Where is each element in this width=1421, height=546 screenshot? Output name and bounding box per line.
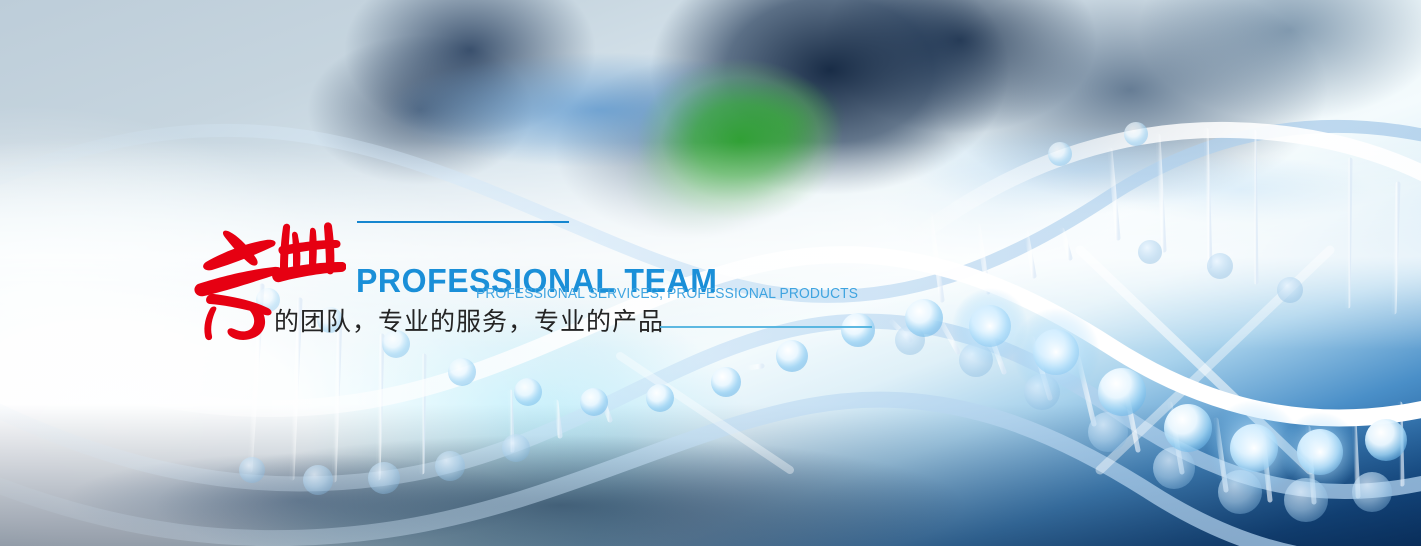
decorative-rule-bottom <box>660 326 872 328</box>
promo-banner: PROFESSIONAL TEAM PROFESSIONAL SERVICES,… <box>0 0 1421 546</box>
decorative-rule-top <box>357 221 569 223</box>
banner-content: PROFESSIONAL TEAM PROFESSIONAL SERVICES,… <box>0 0 1421 546</box>
subtitle: PROFESSIONAL SERVICES, PROFESSIONAL PROD… <box>476 285 858 302</box>
tagline-chinese: 的团队，专业的服务，专业的产品 <box>274 306 664 337</box>
